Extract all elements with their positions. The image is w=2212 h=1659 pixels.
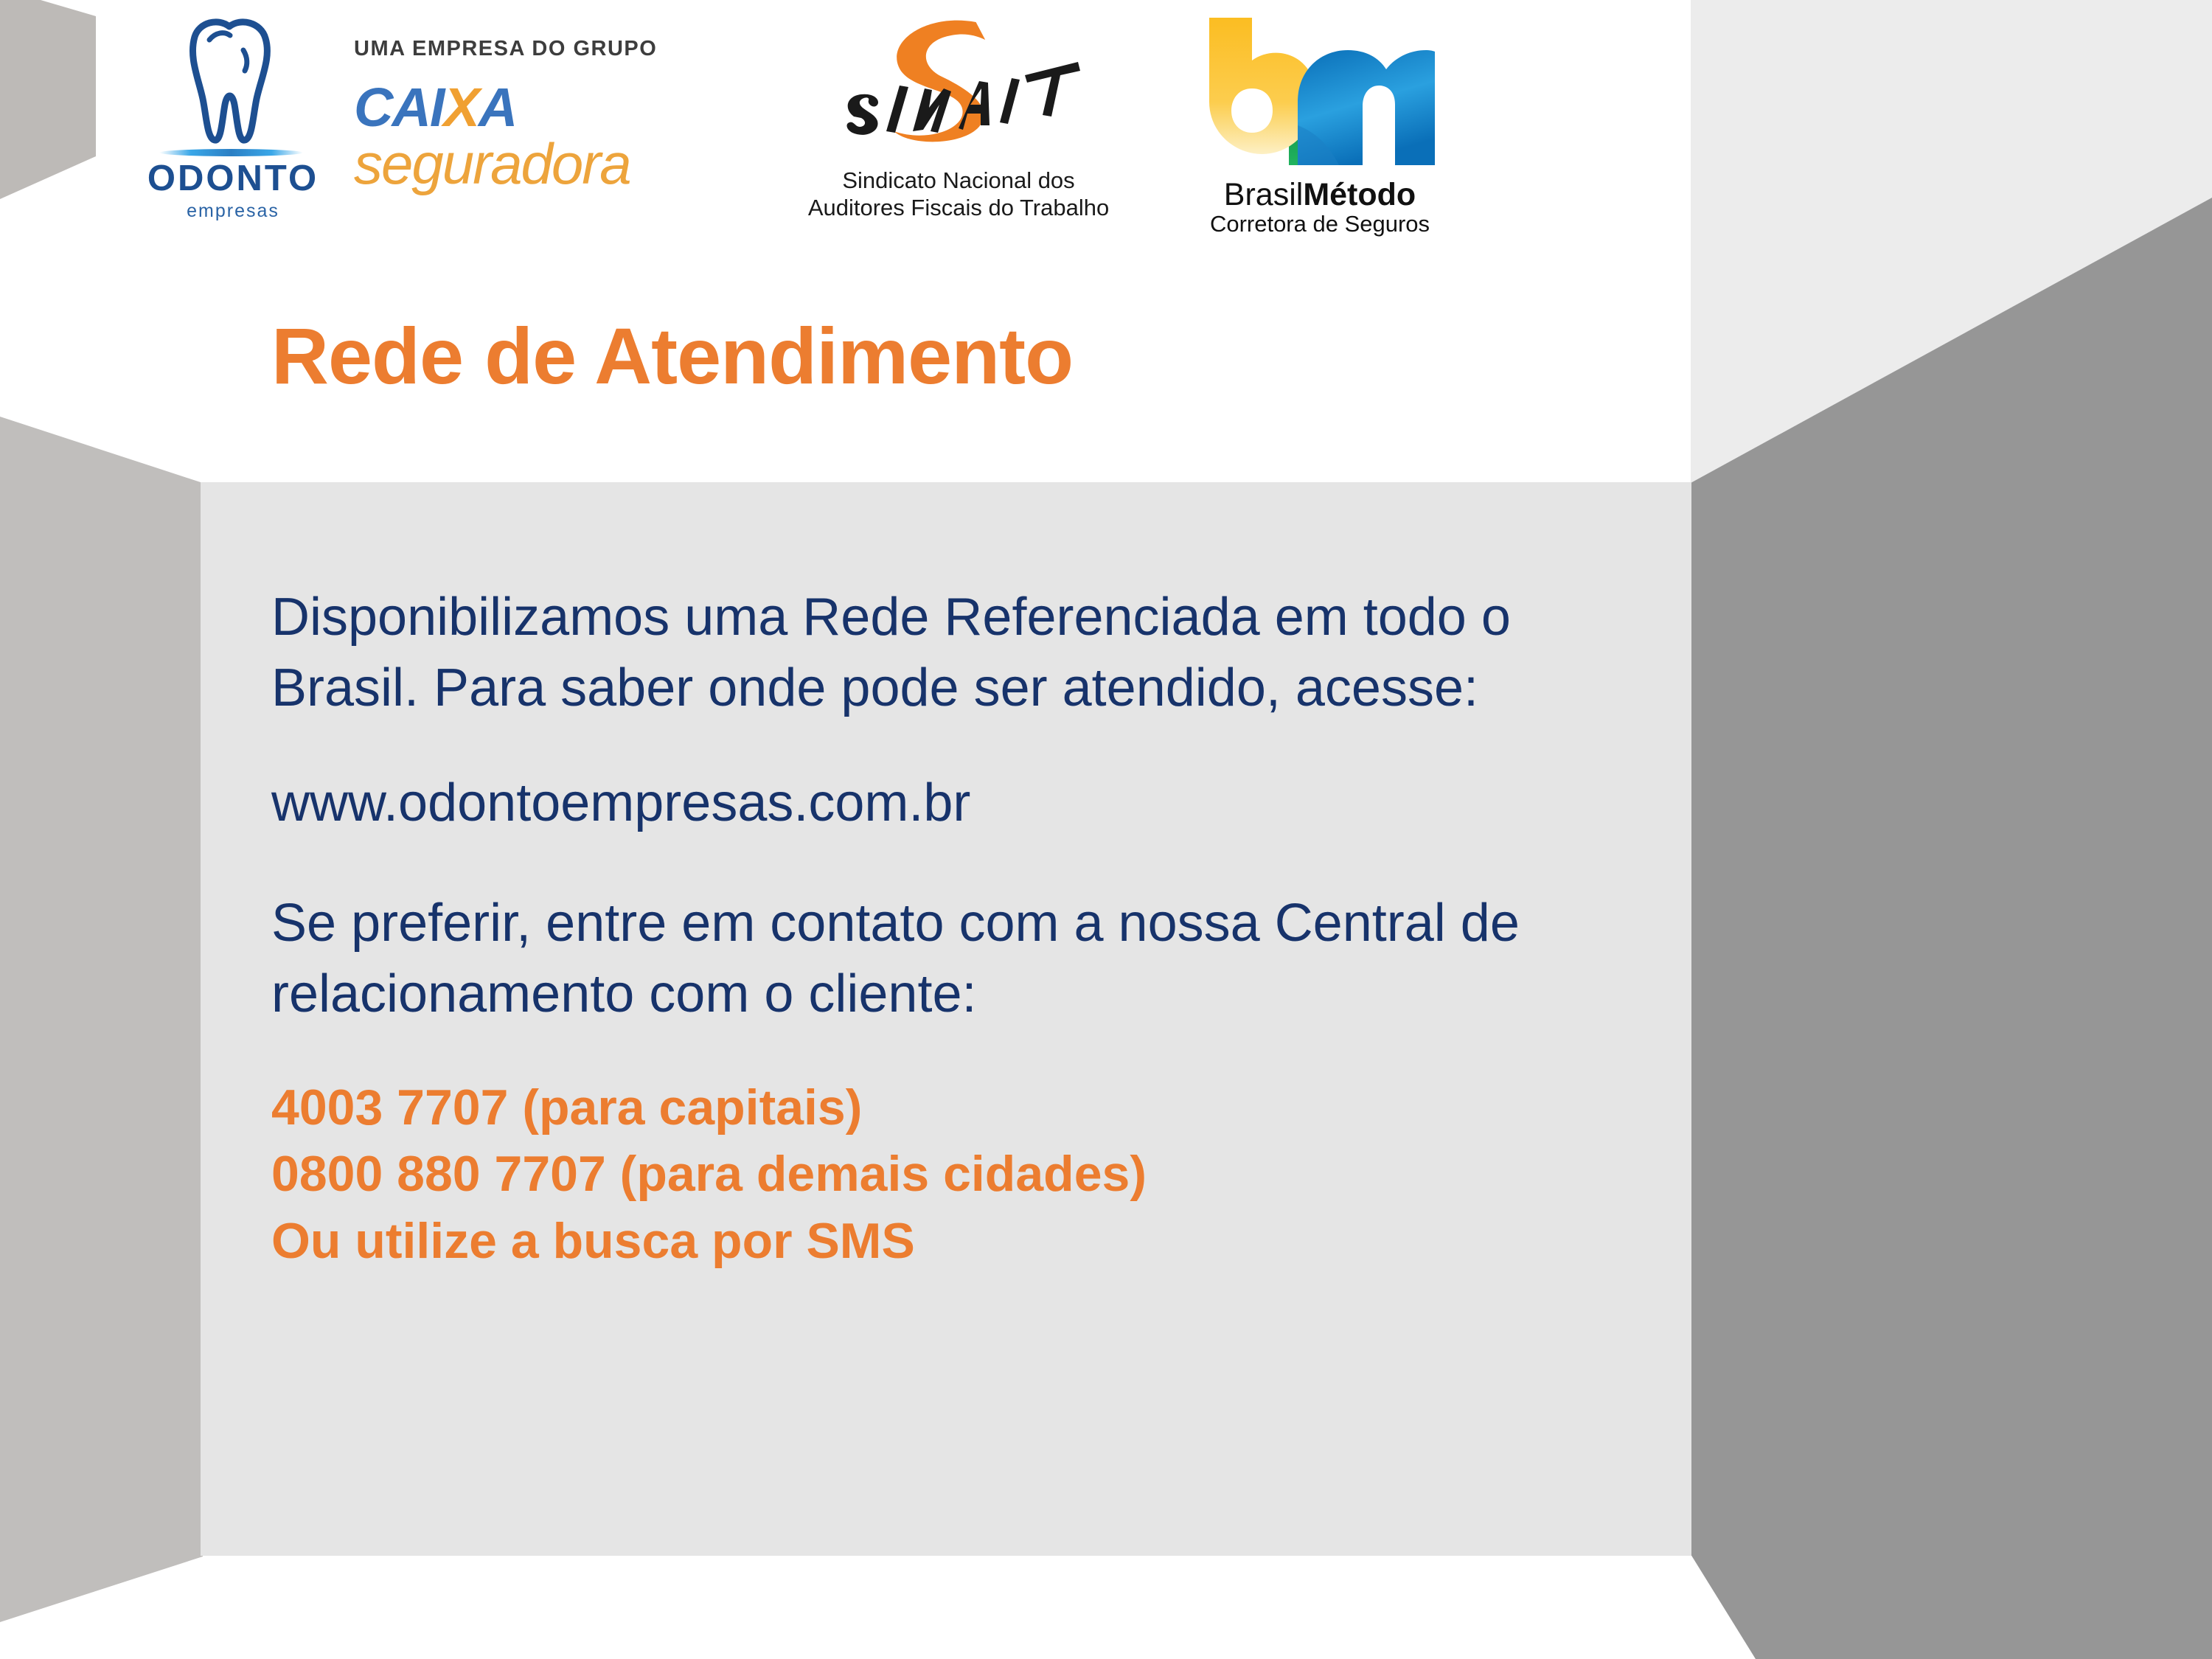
brasilmetodo-wordmark: BrasilMétodo [1194, 178, 1445, 212]
logo-sinait: Sindicato Nacional dos Auditores Fiscais… [804, 6, 1113, 242]
caixa-wordmark: CAIXA [354, 82, 678, 133]
caixa-word-part1: CAI [354, 77, 443, 138]
logo-odonto-empresas: ODONTO empresas [145, 16, 321, 223]
decorative-shape-left-band [0, 409, 203, 1626]
brasilmetodo-tagline: Corretora de Seguros [1194, 212, 1445, 237]
caixa-kicker-text: UMA EMPRESA DO GRUPO [354, 37, 678, 61]
odonto-underline-swoosh [159, 149, 303, 156]
phone-demais-cidades: 0800 880 7707 (para demais cidades) [271, 1141, 1621, 1207]
sms-note: Ou utilize a busca por SMS [271, 1208, 1621, 1274]
page-title: Rede de Atendimento [271, 310, 1073, 402]
paragraph-intro: Disponibilizamos uma Rede Referenciada e… [271, 582, 1621, 724]
odonto-subtitle: empresas [145, 201, 321, 222]
bm-monogram-icon [1202, 15, 1438, 175]
sinait-subtitle-line1: Sindicato Nacional dos [804, 167, 1113, 194]
logo-brasilmetodo: BrasilMétodo Corretora de Seguros [1194, 15, 1445, 232]
sinait-mark-icon [804, 6, 1113, 164]
tooth-icon [180, 16, 279, 145]
odonto-wordmark: ODONTO [145, 161, 321, 197]
paragraph-contact: Se preferir, entre em contato com a noss… [271, 888, 1621, 1030]
logo-row: ODONTO empresas UMA EMPRESA DO GRUPO CAI… [0, 0, 1691, 243]
caixa-word-part2: A [479, 77, 516, 138]
bm-name-bold: Método [1303, 177, 1416, 212]
caixa-seguradora-wordmark: seguradora [354, 135, 678, 192]
slide-canvas: ODONTO empresas UMA EMPRESA DO GRUPO CAI… [0, 0, 2212, 1659]
website-link[interactable]: www.odontoempresas.com.br [271, 768, 1621, 839]
logo-caixa-seguradora: UMA EMPRESA DO GRUPO CAIXA seguradora [354, 37, 678, 210]
phone-capitais: 4003 7707 (para capitais) [271, 1074, 1621, 1141]
body-text-block: Disponibilizamos uma Rede Referenciada e… [271, 582, 1621, 1274]
caixa-word-x: X [443, 77, 478, 138]
bm-name-light: Brasil [1224, 177, 1304, 212]
sinait-subtitle-line2: Auditores Fiscais do Trabalho [804, 194, 1113, 221]
